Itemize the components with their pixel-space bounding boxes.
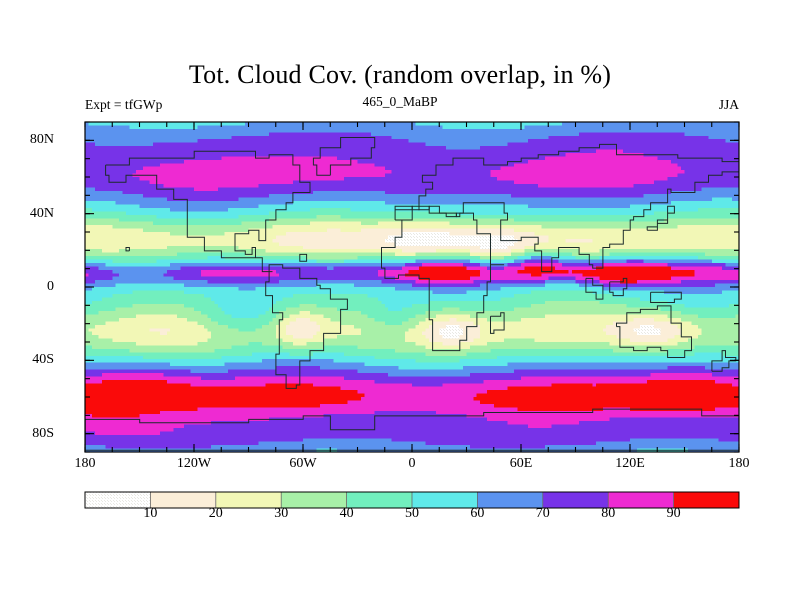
contour-fill-layer (85, 122, 740, 453)
colorbar-tick-label: 40 (340, 506, 354, 522)
colorbar-tick-label: 80 (601, 506, 615, 522)
x-tick-label: 60E (510, 456, 533, 472)
x-tick-label: 120W (177, 456, 211, 472)
y-tick-label: 80N (30, 132, 54, 148)
colorbar-tick-label: 10 (143, 506, 157, 522)
colorbar-tick-label: 50 (405, 506, 419, 522)
x-tick-label: 0 (409, 456, 416, 472)
x-tick-label: 180 (729, 456, 750, 472)
x-tick-label: 180 (75, 456, 96, 472)
y-tick-label: 0 (47, 279, 54, 295)
colorbar-tick-label: 60 (470, 506, 484, 522)
colorbar-tick-label: 20 (209, 506, 223, 522)
figure-canvas: Tot. Cloud Cov. (random overlap, in %) E… (0, 0, 800, 600)
colorbar-tick-label: 70 (536, 506, 550, 522)
x-tick-label: 120E (615, 456, 645, 472)
colorbar-tick-label: 30 (274, 506, 288, 522)
y-tick-label: 40N (30, 206, 54, 222)
page-title: Tot. Cloud Cov. (random overlap, in %) (0, 60, 800, 90)
y-tick-label: 40S (32, 352, 54, 368)
x-tick-label: 60W (289, 456, 316, 472)
subtitle-season: JJA (0, 97, 739, 113)
y-tick-label: 80S (32, 426, 54, 442)
colorbar-tick-label: 90 (667, 506, 681, 522)
